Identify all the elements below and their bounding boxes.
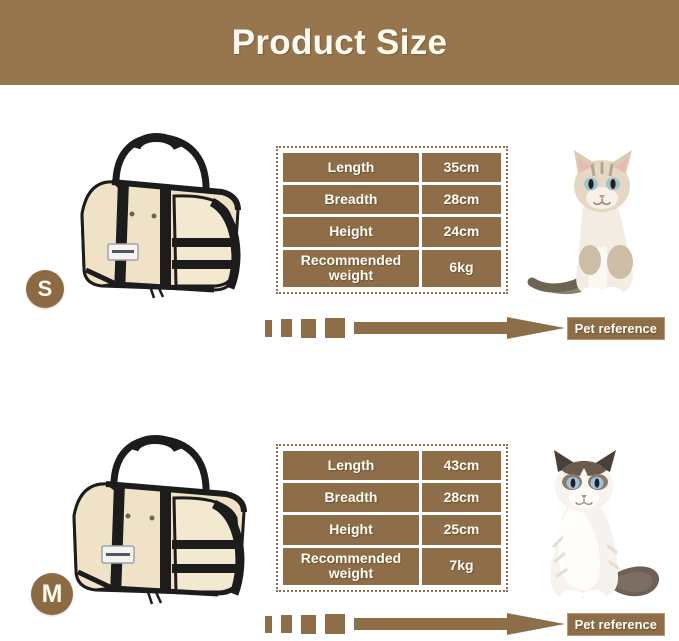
scale-dash xyxy=(301,319,316,338)
scale-arrow-s: Pet reference xyxy=(265,313,665,343)
spec-value: 6kg xyxy=(422,250,501,287)
table-row: Height 25cm xyxy=(283,515,501,544)
table-row: Length 43cm xyxy=(283,451,501,480)
table-row: Recommended weight 7kg xyxy=(283,548,501,585)
spec-label: Breadth xyxy=(283,185,419,214)
pet-photo-s xyxy=(520,140,676,308)
spec-value: 28cm xyxy=(422,185,501,214)
spec-value: 25cm xyxy=(422,515,501,544)
spec-label: Length xyxy=(283,153,419,182)
product-size-infographic: Product Size S xyxy=(0,0,679,641)
spec-table-m: Length 43cm Breadth 28cm Height 25cm Rec… xyxy=(276,444,508,592)
arrow-right-icon xyxy=(354,317,565,339)
scale-dash xyxy=(281,615,292,633)
table-row: Recommended weight 6kg xyxy=(283,250,501,287)
page-title: Product Size xyxy=(232,23,448,63)
spec-value: 7kg xyxy=(422,548,501,585)
scale-dash xyxy=(265,616,272,633)
table-row: Length 35cm xyxy=(283,153,501,182)
table-row: Breadth 28cm xyxy=(283,185,501,214)
pet-reference-label: Pet reference xyxy=(567,317,665,340)
scale-dash xyxy=(325,318,345,338)
spec-table-s: Length 35cm Breadth 28cm Height 24cm Rec… xyxy=(276,146,508,294)
scale-dash xyxy=(265,320,272,337)
table-row: Breadth 28cm xyxy=(283,483,501,512)
scale-dash xyxy=(325,614,345,634)
spec-label: Length xyxy=(283,451,419,480)
arrow-right-icon xyxy=(354,613,565,635)
product-image-m xyxy=(48,418,272,608)
header-band: Product Size xyxy=(0,0,679,85)
spec-label: Height xyxy=(283,217,419,246)
scale-dash xyxy=(301,615,316,634)
table-row: Height 24cm xyxy=(283,217,501,246)
scale-arrow-m: Pet reference xyxy=(265,609,665,639)
spec-label: Recommended weight xyxy=(283,548,419,585)
spec-value: 28cm xyxy=(422,483,501,512)
pet-photo-m xyxy=(518,442,676,610)
spec-value: 43cm xyxy=(422,451,501,480)
scale-dash xyxy=(281,319,292,337)
product-image-s xyxy=(54,118,266,306)
spec-label: Breadth xyxy=(283,483,419,512)
spec-value: 24cm xyxy=(422,217,501,246)
pet-reference-label: Pet reference xyxy=(567,613,665,636)
spec-value: 35cm xyxy=(422,153,501,182)
spec-label: Recommended weight xyxy=(283,250,419,287)
spec-label: Height xyxy=(283,515,419,544)
